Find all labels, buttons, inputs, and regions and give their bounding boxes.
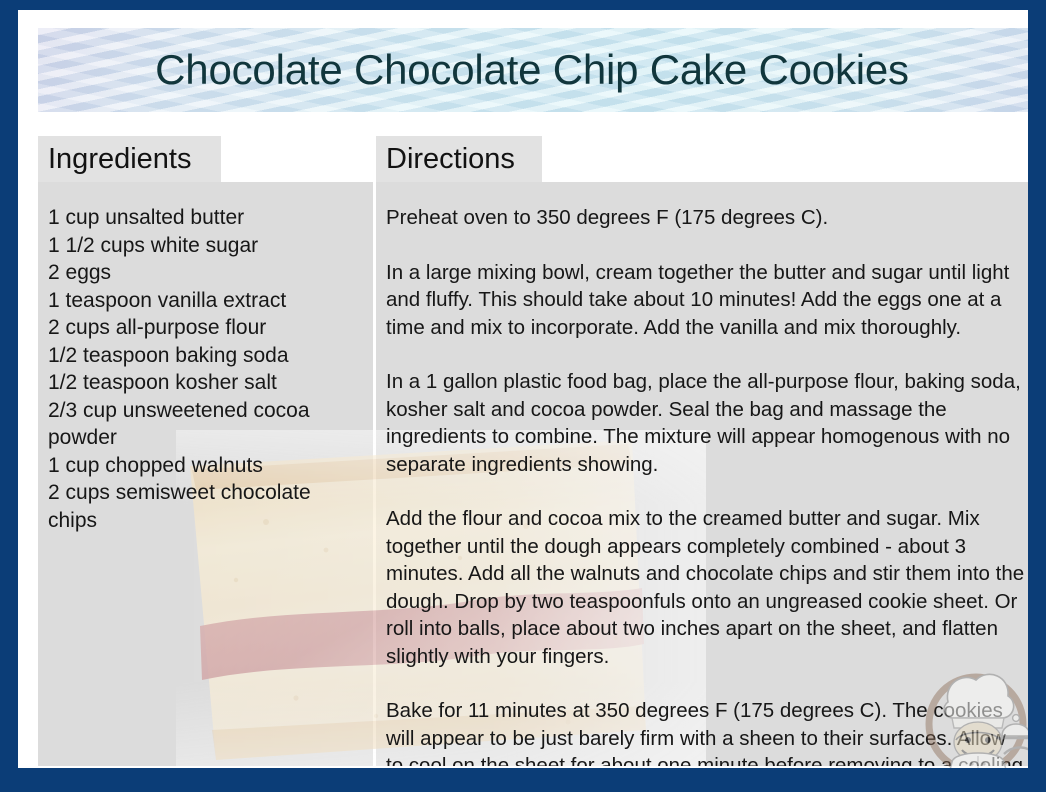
direction-step: In a large mixing bowl, cream together t… — [386, 259, 1028, 342]
ingredients-list: 1 cup unsalted butter1 1/2 cups white su… — [48, 204, 361, 534]
direction-step: Bake for 11 minutes at 350 degrees F (17… — [386, 697, 1028, 766]
direction-step: Preheat oven to 350 degrees F (175 degre… — [386, 204, 1028, 232]
ingredient-item: 2/3 cup unsweetened cocoa powder — [48, 397, 361, 452]
directions-heading: Directions — [376, 136, 542, 182]
ingredient-item: 1 cup chopped walnuts — [48, 452, 361, 480]
recipe-slide: Chocolate Chocolate Chip Cake Cookies In… — [0, 0, 1046, 792]
ingredient-item: 2 eggs — [48, 259, 361, 287]
ingredients-panel: 1 cup unsalted butter1 1/2 cups white su… — [38, 182, 373, 766]
title-banner: Chocolate Chocolate Chip Cake Cookies — [38, 28, 1028, 112]
ingredient-item: 1 1/2 cups white sugar — [48, 232, 361, 260]
ingredient-item: 1 teaspoon vanilla extract — [48, 287, 361, 315]
ingredient-item: 1/2 teaspoon baking soda — [48, 342, 361, 370]
slide-page: Chocolate Chocolate Chip Cake Cookies In… — [18, 10, 1028, 768]
ingredients-heading: Ingredients — [38, 136, 221, 182]
direction-step: Add the flour and cocoa mix to the cream… — [386, 505, 1028, 670]
directions-panel: Preheat oven to 350 degrees F (175 degre… — [376, 182, 1028, 766]
ingredient-item: 1/2 teaspoon kosher salt — [48, 369, 361, 397]
directions-list: Preheat oven to 350 degrees F (175 degre… — [386, 204, 1028, 766]
ingredient-item: 2 cups semisweet chocolate chips — [48, 479, 361, 534]
ingredient-item: 1 cup unsalted butter — [48, 204, 361, 232]
page-title: Chocolate Chocolate Chip Cake Cookies — [38, 47, 1026, 93]
ingredient-item: 2 cups all-purpose flour — [48, 314, 361, 342]
direction-step: In a 1 gallon plastic food bag, place th… — [386, 368, 1028, 478]
